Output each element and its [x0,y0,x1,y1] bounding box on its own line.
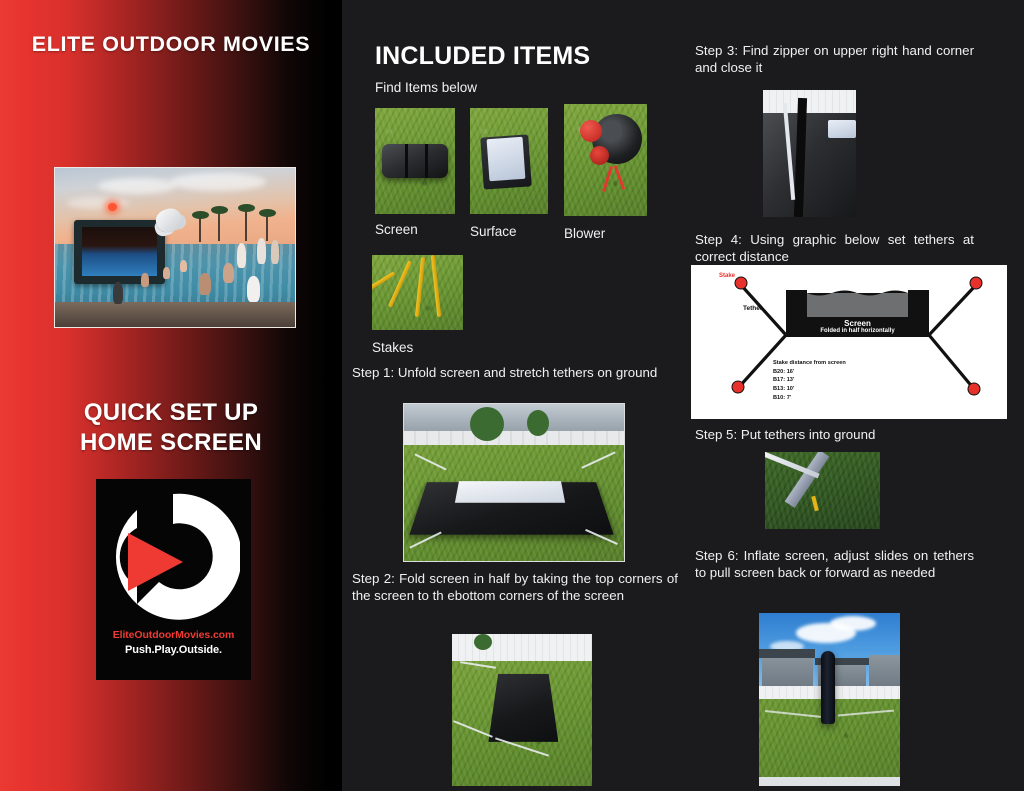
hero-person [113,282,123,304]
house-roof [759,649,815,658]
palm-tree [199,216,201,242]
stake-marker-bottom-left [732,381,744,393]
brand-title: ELITE OUTDOOR MOVIES [0,31,342,59]
step-4-text: Step 4: Using graphic below set tethers … [695,231,974,265]
tree [470,407,504,441]
stake-distance-row: B17: 13' [773,376,846,385]
stake-distance-row: B13: 10' [773,385,846,394]
hero-person [180,260,187,272]
house [762,653,813,688]
hero-person [247,276,260,302]
item-photo-blower [564,104,647,216]
screen-surface-edge [828,120,856,138]
stake-distance-value: 16' [787,369,795,375]
tether-placement-diagram: Stake Tether Screen Folded in half horiz… [691,265,1007,419]
hero-person [257,238,266,264]
stake-distance-table: Stake distance from screen B20: 16' B17:… [773,359,846,402]
hero-inflatable-screen [74,220,165,284]
stake-distance-model: B13: [773,386,785,392]
palm-tree [218,211,220,241]
item-photo-screen [375,108,455,214]
screen-surface [807,293,908,317]
inflated-screen-folded [821,651,835,724]
step-2-photo [452,634,592,786]
quick-setup-title-line1: QUICK SET UP [0,398,342,428]
stake-distance-model: B10: [773,395,785,401]
included-items-column: INCLUDED ITEMS Find Items below Screen S… [342,0,687,791]
step-1-text: Step 1: Unfold screen and stretch tether… [352,364,678,381]
item-photo-stakes [372,255,463,330]
step-2-text: Step 2: Fold screen in half by taking th… [352,570,678,604]
screen-surface-panel [455,481,565,503]
logo-tagline: Push.Play.Outside. [96,644,251,656]
step-5-text: Step 5: Put tethers into ground [695,426,974,443]
setup-instruction-sheet: ELITE OUTDOOR MOVIES [0,0,1024,791]
stake-distance-model: B17: [773,377,785,383]
logo-website-url: EliteOutdoorMovies.com [96,629,251,641]
stake-distance-value: 13' [787,377,795,383]
surface-tarp-light [487,137,526,181]
item-photo-surface [470,108,548,214]
screen-carry-bag [382,144,448,178]
item-label-screen: Screen [375,222,418,237]
step-5-photo [765,452,880,529]
brand-logo: EliteOutdoorMovies.com Push.Play.Outside… [96,479,251,680]
bag-strap [405,144,408,178]
hero-cloud [170,173,266,191]
page-title: INCLUDED ITEMS [375,42,590,71]
background-fence [452,634,592,661]
stake-distance-title: Stake distance from screen [773,359,846,368]
hero-cloud [67,197,129,209]
steps-column: Step 3: Find zipper on upper right hand … [687,0,1024,791]
item-label-blower: Blower [564,226,605,241]
hero-scene [55,168,295,327]
step-3-photo [763,90,856,217]
bag-strap [425,144,428,178]
stake-marker-bottom-right [968,383,980,395]
hero-person [237,243,246,268]
hero-person [141,273,149,287]
quick-setup-title-line2: HOME SCREEN [0,428,342,458]
stake-distance-row: B10: 7' [773,394,846,403]
folded-screen [488,674,558,742]
diagram-screen-label: Screen [807,319,908,328]
stake-distance-value: 10' [787,386,795,392]
step-6-photo [759,613,900,786]
stake-distance-row: B20: 16' [773,368,846,377]
stake-distance-value: 7' [787,395,791,401]
step-3-text: Step 3: Find zipper on upper right hand … [695,42,974,76]
hero-cloud [98,178,176,194]
item-label-stakes: Stakes [372,340,413,355]
stake-marker-top-left [735,277,747,289]
diagram-tether-label: Tether [743,305,762,312]
stake-marker-top-right [970,277,982,289]
palm-tree [266,214,268,241]
find-items-note: Find Items below [375,80,477,95]
hero-photo-poolside-movie [54,167,296,328]
hero-person [223,263,234,283]
diagram-stake-label: Stake [719,273,735,279]
quick-setup-title: QUICK SET UP HOME SCREEN [0,398,342,459]
left-brand-panel: ELITE OUTDOOR MOVIES [0,0,342,791]
hero-pool-deck [55,302,295,327]
item-label-surface: Surface [470,224,517,239]
sidewalk [759,777,900,786]
background-houses [404,404,624,445]
stake-distance-model: B20: [773,369,785,375]
house [869,655,900,688]
hero-person [271,240,279,264]
hero-person [199,273,211,295]
step-1-photo [403,403,625,562]
palm-tree [245,209,247,241]
tether-diagram-svg [691,265,1007,419]
blower-motor [580,120,602,142]
diagram-screen-sublabel: Folded in half horizontally [797,328,918,334]
step-6-text: Step 6: Inflate screen, adjust slides on… [695,547,974,581]
play-circle-logo-icon [107,486,240,628]
blower-outlet [590,146,609,165]
hero-person [163,267,170,279]
hero-sun-glow [108,203,117,211]
